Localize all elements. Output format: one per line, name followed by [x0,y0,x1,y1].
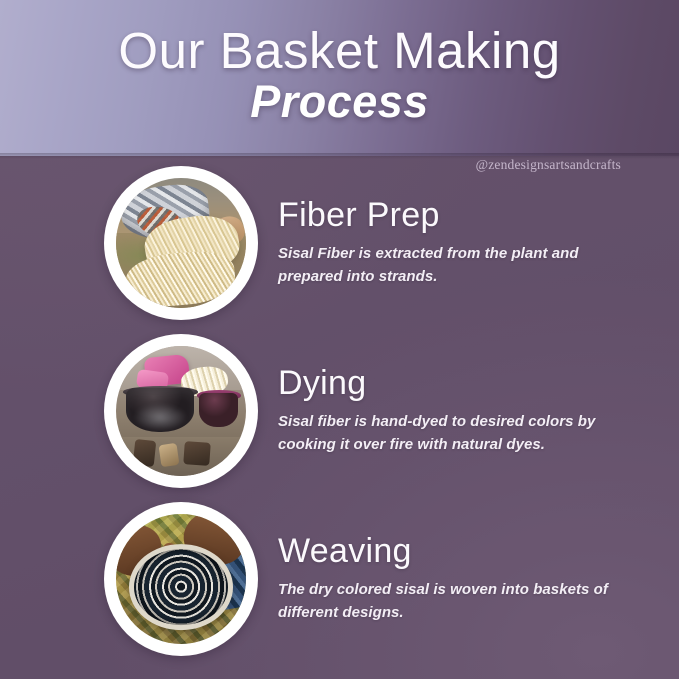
step-1-text: Fiber Prep Sisal Fiber is extracted from… [278,197,679,288]
fiber-prep-photo [116,178,246,308]
process-step-2: Dying Sisal fiber is hand-dyed to desire… [0,333,679,489]
page-title: Our Basket Making Process [0,22,679,125]
process-step-3: Weaving The dry colored sisal is woven i… [0,501,679,657]
step-2-title: Dying [278,365,651,402]
step-1-description: Sisal Fiber is extracted from the plant … [278,242,608,289]
process-infographic: Our Basket Making Process @zendesignsart… [0,0,679,679]
firewood-3 [183,441,211,466]
firewood-2 [159,442,180,466]
title-line-2: Process [0,78,679,125]
step-2-description: Sisal fiber is hand-dyed to desired colo… [278,410,608,457]
basket-rim [129,544,233,630]
step-3-thumbnail [104,502,258,656]
step-3-title: Weaving [278,533,651,570]
step-1-thumbnail [104,166,258,320]
title-line-1: Our Basket Making [0,22,679,80]
step-3-text: Weaving The dry colored sisal is woven i… [278,533,679,624]
process-step-1: Fiber Prep Sisal Fiber is extracted from… [0,165,679,321]
firewood-1 [133,439,156,467]
step-3-description: The dry colored sisal is woven into bask… [278,578,608,625]
smoke-haze [129,398,207,437]
fiber-photo-art [116,178,246,308]
dye-photo-art [116,346,246,476]
weaving-photo [116,514,246,644]
weave-photo-art [116,514,246,644]
dying-photo [116,346,246,476]
step-2-thumbnail [104,334,258,488]
step-2-text: Dying Sisal fiber is hand-dyed to desire… [278,365,679,456]
step-1-title: Fiber Prep [278,197,651,234]
